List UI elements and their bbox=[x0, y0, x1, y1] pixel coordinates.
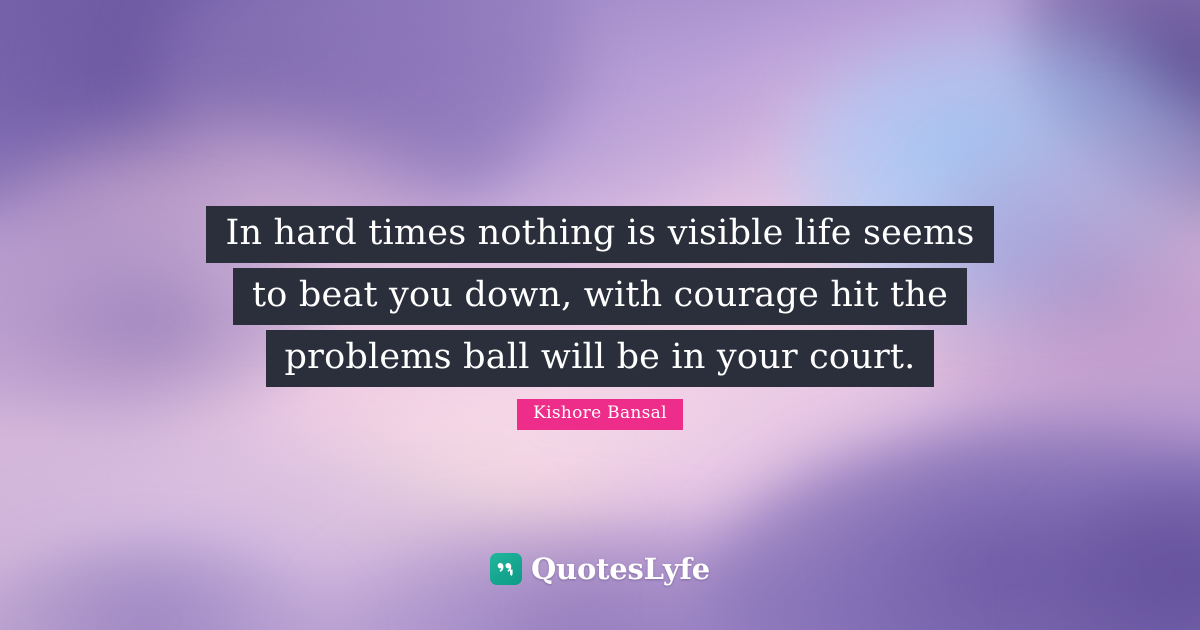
quote-card: In hard times nothing is visible life se… bbox=[0, 0, 1200, 630]
quote-line-3: problems ball will be in your court. bbox=[266, 330, 935, 387]
quote-text-block: In hard times nothing is visible life se… bbox=[0, 206, 1200, 387]
quote-line-1: In hard times nothing is visible life se… bbox=[206, 206, 993, 263]
brand-name: QuotesLyfe bbox=[531, 555, 710, 584]
quote-line-2: to beat you down, with courage hit the bbox=[233, 268, 967, 325]
author-name-badge: Kishore Bansal bbox=[517, 399, 683, 430]
author-attribution: Kishore Bansal bbox=[0, 399, 1200, 430]
brand-logo[interactable]: QuotesLyfe bbox=[0, 553, 1200, 585]
quote-mark-icon bbox=[490, 553, 522, 585]
